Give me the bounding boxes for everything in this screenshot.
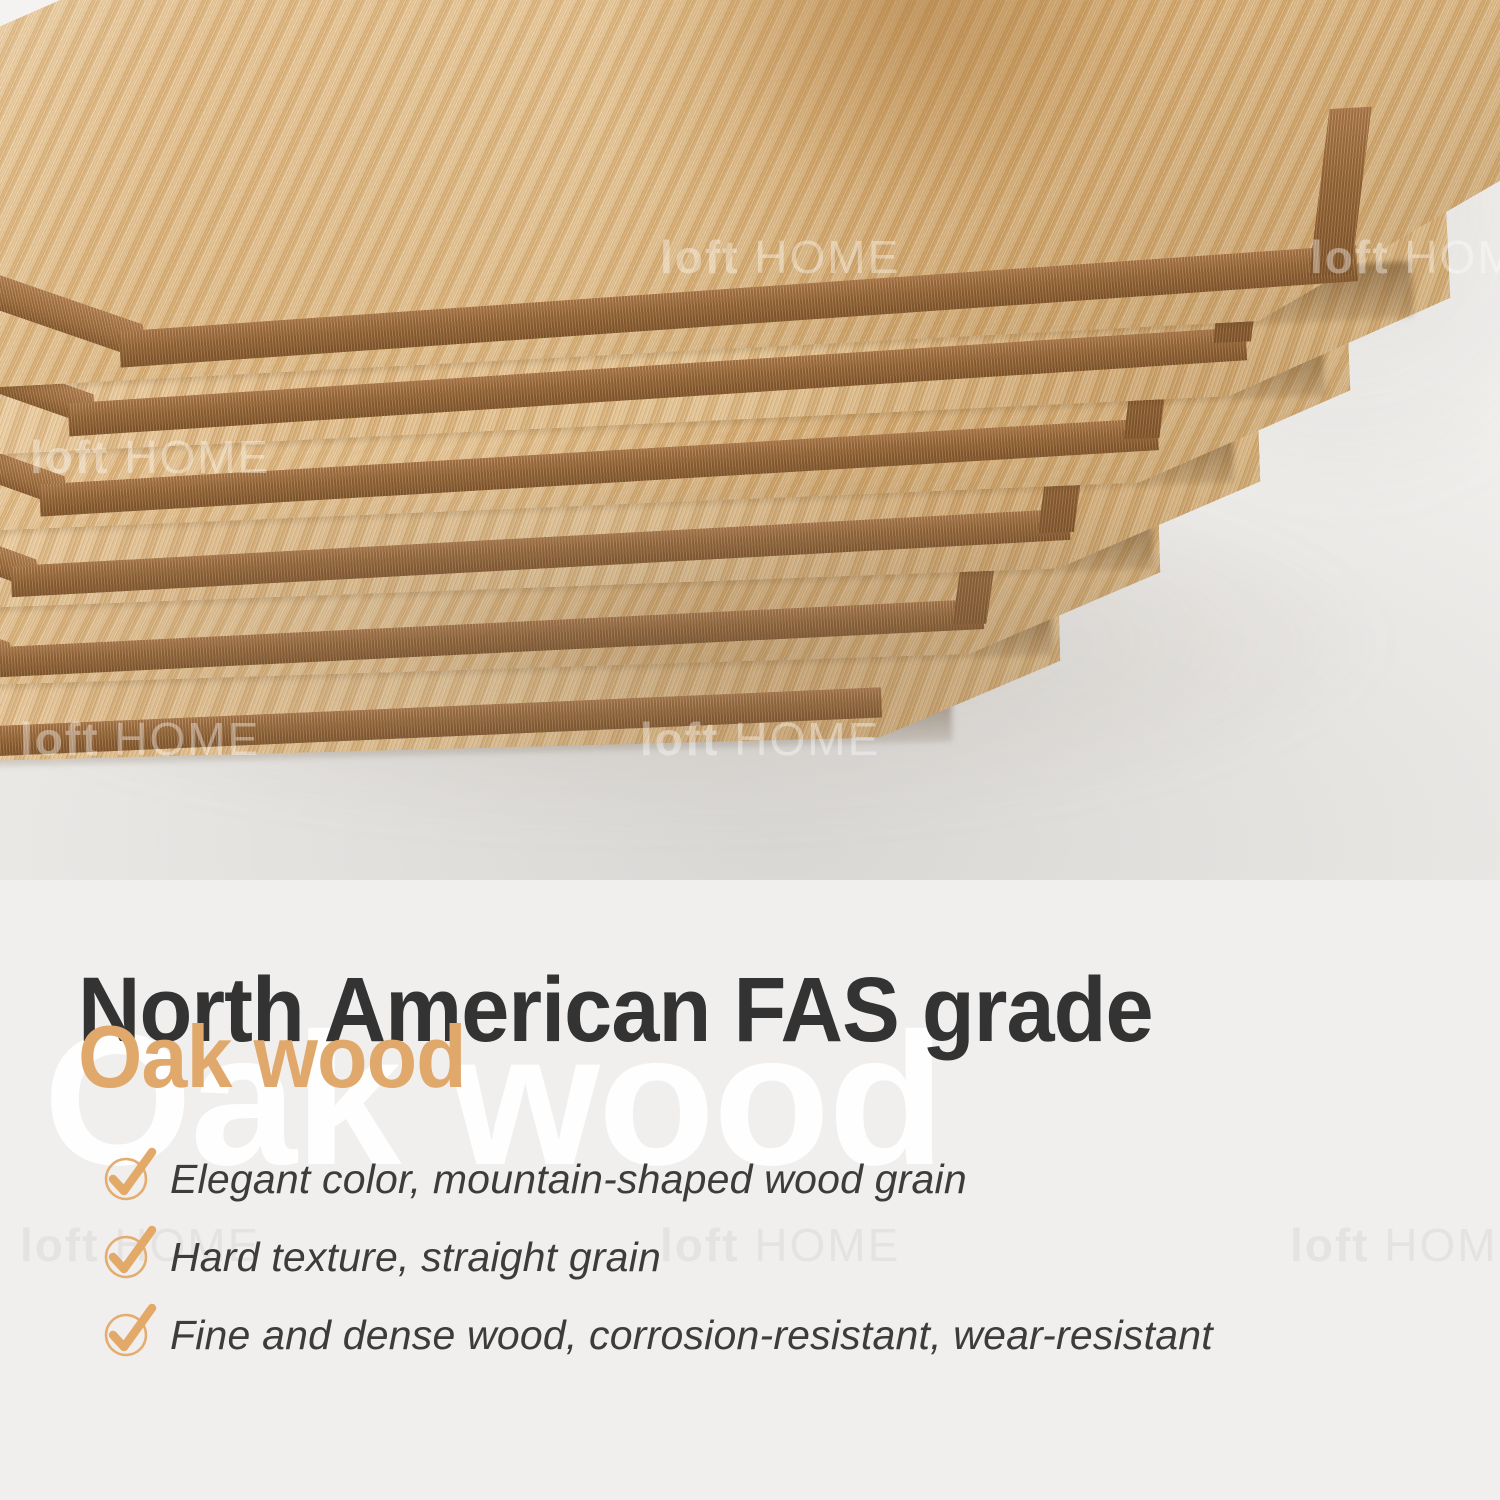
list-item: Hard texture, straight grain — [100, 1221, 1460, 1293]
list-item: Fine and dense wood, corrosion-resistant… — [100, 1299, 1460, 1371]
list-item: Elegant color, mountain-shaped wood grai… — [100, 1143, 1460, 1215]
photo-floor-shadow — [0, 458, 1500, 880]
product-feature-card: loft HOME loft HOME loft HOME loft HOME … — [0, 0, 1500, 1500]
page-title-line2: Oak wood — [78, 1013, 466, 1101]
feature-label: Hard texture, straight grain — [170, 1234, 661, 1281]
feature-label: Fine and dense wood, corrosion-resistant… — [170, 1312, 1213, 1359]
feature-list: Elegant color, mountain-shaped wood grai… — [100, 1143, 1460, 1377]
check-circle-icon — [100, 1152, 154, 1206]
product-photo — [0, 0, 1500, 880]
check-circle-icon — [100, 1308, 154, 1362]
feature-label: Elegant color, mountain-shaped wood grai… — [170, 1156, 967, 1203]
check-circle-icon — [100, 1230, 154, 1284]
